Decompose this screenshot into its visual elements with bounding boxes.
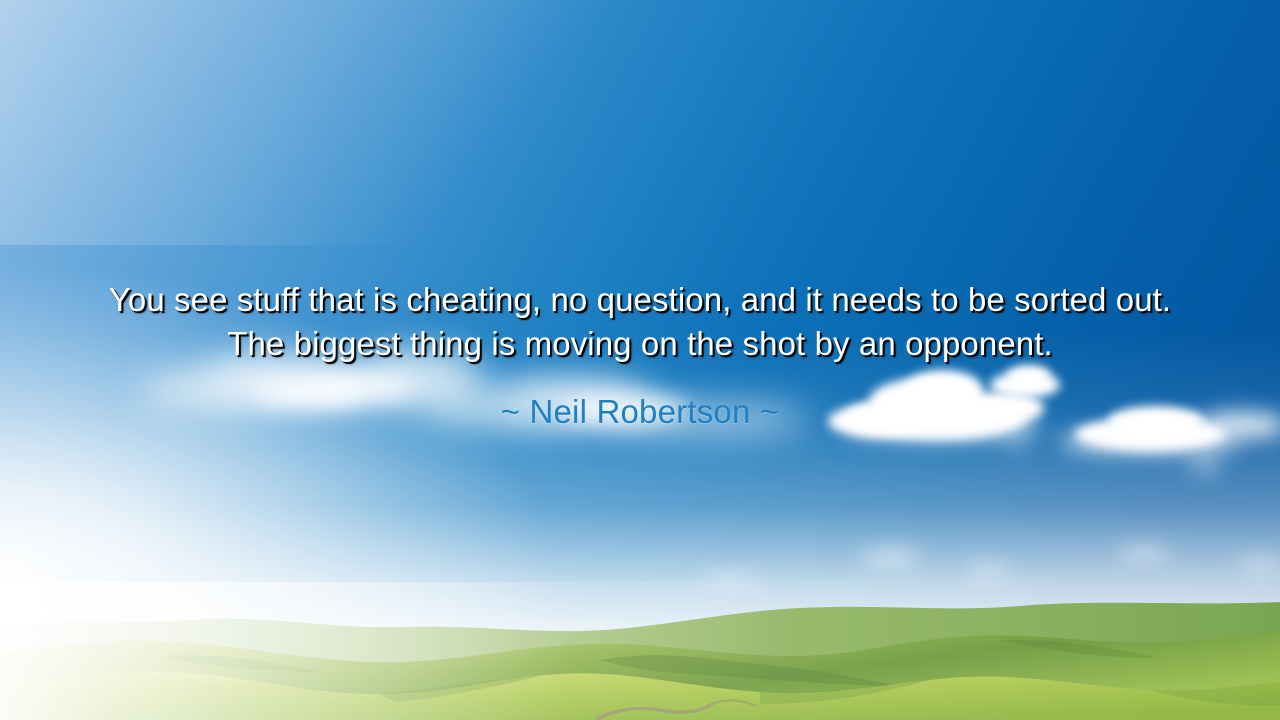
quote-text: You see stuff that is cheating, no quest… bbox=[105, 278, 1175, 366]
quote-content: You see stuff that is cheating, no quest… bbox=[0, 0, 1280, 432]
quote-author: ~ Neil Robertson ~ bbox=[105, 392, 1175, 432]
quote-image-card: You see stuff that is cheating, no quest… bbox=[0, 0, 1280, 720]
rolling-hills-landscape bbox=[0, 582, 1280, 720]
